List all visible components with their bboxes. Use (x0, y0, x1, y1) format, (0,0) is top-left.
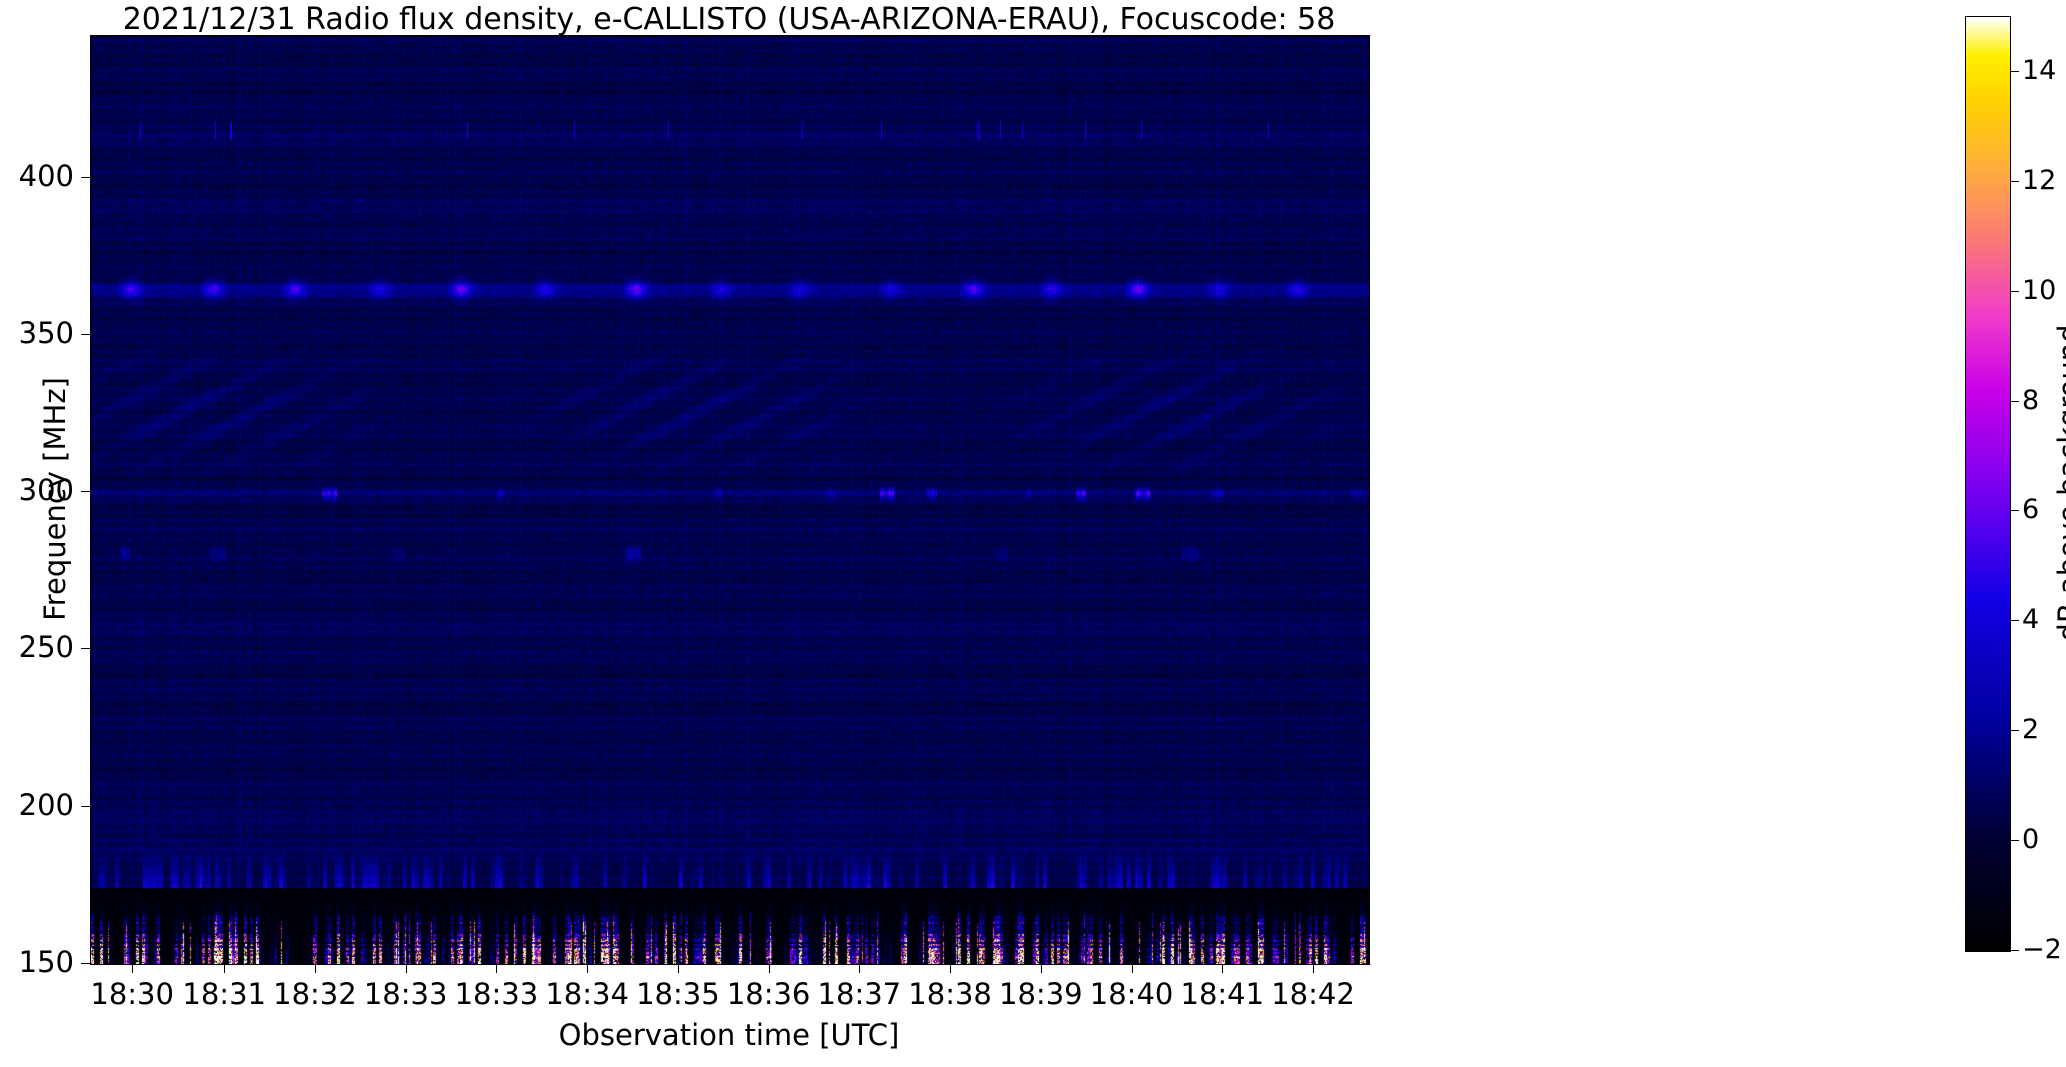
x-tick-mark (950, 964, 951, 973)
figure-title: 2021/12/31 Radio flux density, e-CALLIST… (90, 4, 1368, 36)
colorbar-label: dB above background (2052, 16, 2066, 950)
x-tick-mark (678, 964, 679, 973)
y-tick-mark (81, 648, 90, 649)
x-tick-mark (132, 964, 133, 973)
x-tick-mark (406, 964, 407, 973)
y-tick-mark (81, 963, 90, 964)
x-tick-mark (769, 964, 770, 973)
y-tick-mark (81, 177, 90, 178)
colorbar-tick-mark (2010, 730, 2019, 731)
y-tick-mark (81, 491, 90, 492)
spectrogram-image (91, 36, 1369, 964)
y-tick-mark (81, 806, 90, 807)
x-tick-mark (1041, 964, 1042, 973)
y-axis-label: Frequency [MHz] (38, 35, 72, 963)
x-tick-mark (1132, 964, 1133, 973)
colorbar-tick-mark (2010, 840, 2019, 841)
x-tick-mark (859, 964, 860, 973)
x-tick-mark (1222, 964, 1223, 973)
x-tick-mark (315, 964, 316, 973)
colorbar-tick-mark (2010, 401, 2019, 402)
x-tick-mark (496, 964, 497, 973)
colorbar-tick-mark (2010, 510, 2019, 511)
colorbar-gradient (1966, 17, 2010, 951)
spectrogram-axes (90, 35, 1370, 965)
y-tick-mark (81, 334, 90, 335)
x-tick-mark (224, 964, 225, 973)
x-tick-mark (587, 964, 588, 973)
colorbar-tick-mark (2010, 950, 2019, 951)
colorbar-tick-mark (2010, 291, 2019, 292)
x-axis-label: Observation time [UTC] (90, 1018, 1368, 1052)
figure-root: 2021/12/31 Radio flux density, e-CALLIST… (0, 0, 2066, 1067)
colorbar (1965, 16, 2011, 952)
x-tick-mark (1313, 964, 1314, 973)
colorbar-tick-mark (2010, 620, 2019, 621)
x-tick-label: 18:42 (1233, 978, 1393, 1010)
colorbar-tick-mark (2010, 71, 2019, 72)
colorbar-tick-mark (2010, 181, 2019, 182)
